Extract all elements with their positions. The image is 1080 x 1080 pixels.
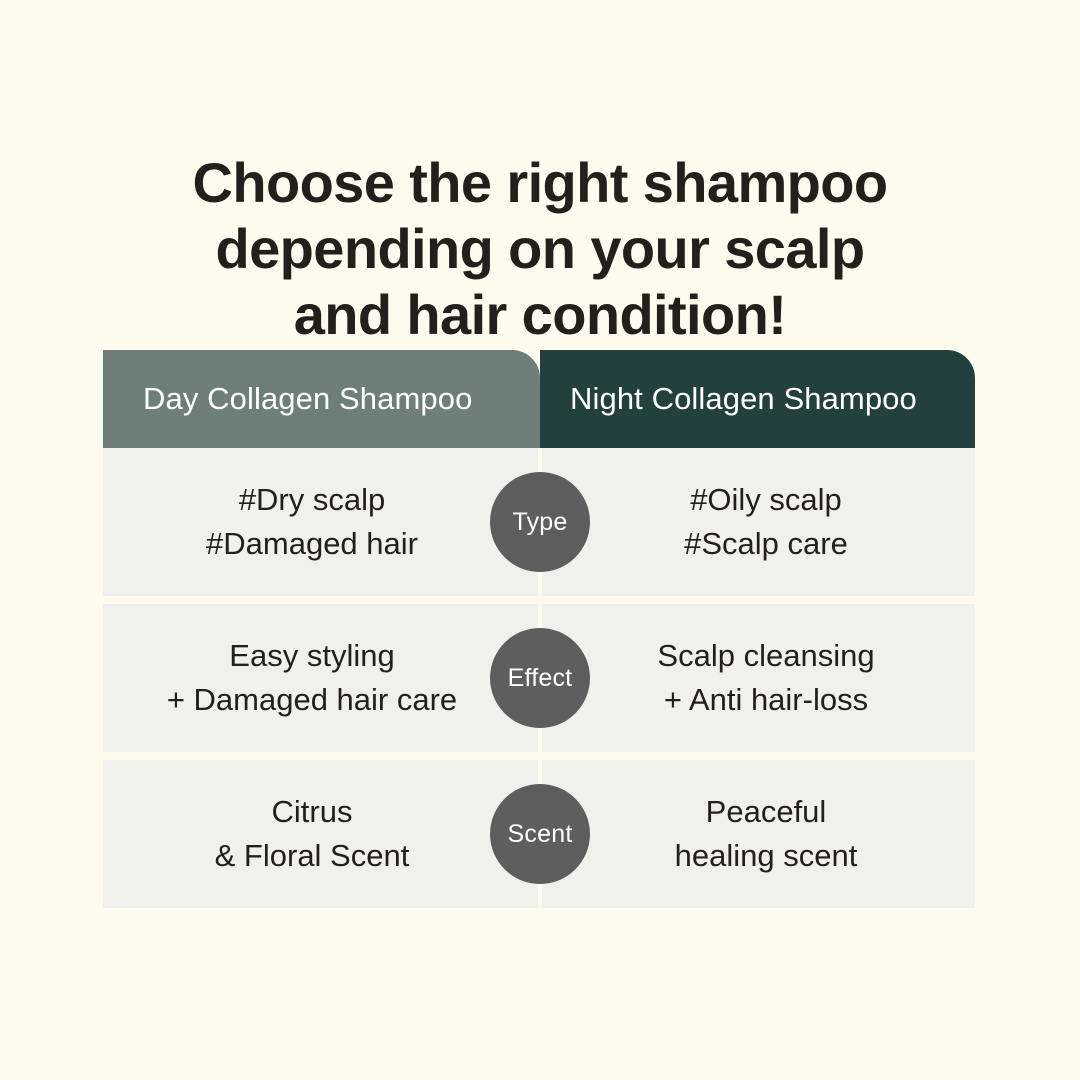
table-row: Easy styling + Damaged hair care Effect … — [103, 604, 975, 752]
row-scent-day-cell: Citrus & Floral Scent — [103, 760, 539, 908]
page-title-line-1: Choose the right shampoo — [0, 150, 1080, 216]
column-header-night: Night Collagen Shampoo — [540, 350, 975, 448]
page-title-line-2: depending on your scalp — [0, 216, 1080, 282]
row-badge-scent-label: Scent — [508, 820, 573, 849]
row-badge-effect-label: Effect — [508, 664, 573, 693]
row-effect-night-cell: Scalp cleansing + Anti hair-loss — [539, 604, 975, 752]
row-badge-scent: Scent — [490, 784, 590, 884]
row-scent-day-line-1: Citrus — [272, 790, 353, 834]
row-badge-type-label: Type — [513, 508, 568, 537]
row-type-day-line-1: #Dry scalp — [239, 478, 385, 522]
row-scent-night-cell: Peaceful healing scent — [539, 760, 975, 908]
column-header-night-label: Night Collagen Shampoo — [570, 381, 917, 417]
column-header-day: Day Collagen Shampoo — [103, 350, 540, 448]
column-header-day-label: Day Collagen Shampoo — [143, 381, 472, 417]
row-effect-night-line-1: Scalp cleansing — [657, 634, 874, 678]
row-badge-effect: Effect — [490, 628, 590, 728]
row-effect-day-cell: Easy styling + Damaged hair care — [103, 604, 539, 752]
row-scent-night-line-1: Peaceful — [706, 790, 827, 834]
table-row: Citrus & Floral Scent Scent Peaceful hea… — [103, 760, 975, 908]
row-type-night-line-1: #Oily scalp — [690, 478, 842, 522]
comparison-table: Day Collagen Shampoo Night Collagen Sham… — [103, 350, 975, 908]
row-badge-type: Type — [490, 472, 590, 572]
row-effect-day-line-1: Easy styling — [229, 634, 394, 678]
page-title-line-3: and hair condition! — [0, 282, 1080, 348]
page-title: Choose the right shampoo depending on yo… — [0, 150, 1080, 348]
row-effect-day-line-2: + Damaged hair care — [167, 678, 457, 722]
table-header-row: Day Collagen Shampoo Night Collagen Sham… — [103, 350, 975, 448]
row-type-day-cell: #Dry scalp #Damaged hair — [103, 448, 539, 596]
table-row: #Dry scalp #Damaged hair Type #Oily scal… — [103, 448, 975, 596]
row-type-day-line-2: #Damaged hair — [206, 522, 418, 566]
row-effect-night-line-2: + Anti hair-loss — [664, 678, 868, 722]
row-type-night-line-2: #Scalp care — [684, 522, 848, 566]
infographic-page: Choose the right shampoo depending on yo… — [0, 0, 1080, 1080]
row-scent-day-line-2: & Floral Scent — [215, 834, 410, 878]
row-type-night-cell: #Oily scalp #Scalp care — [539, 448, 975, 596]
row-scent-night-line-2: healing scent — [675, 834, 858, 878]
table-body: #Dry scalp #Damaged hair Type #Oily scal… — [103, 448, 975, 908]
